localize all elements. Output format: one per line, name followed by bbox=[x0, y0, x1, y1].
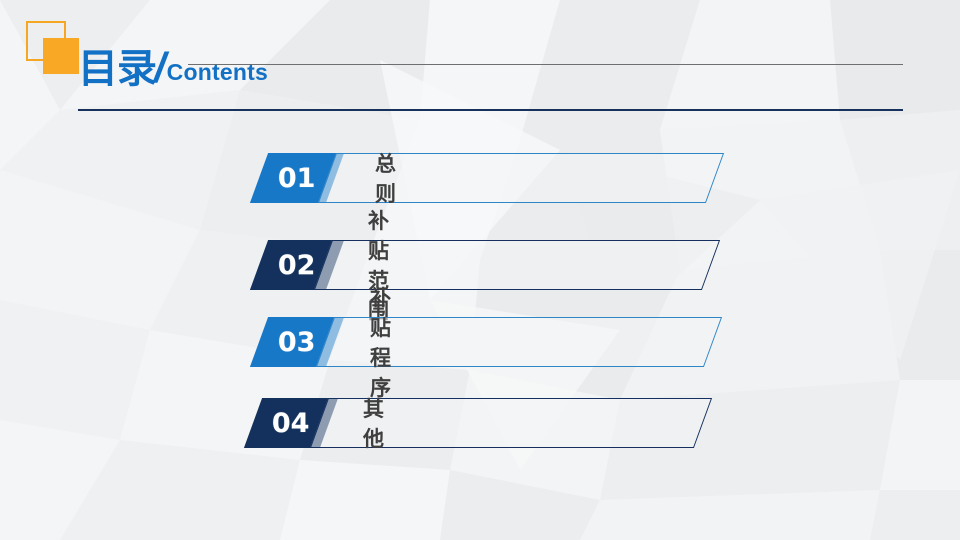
contents-number-text: 04 bbox=[272, 410, 310, 437]
contents-list: 01总则02补贴范围03补贴程序04其他 bbox=[0, 0, 960, 540]
contents-number-text: 02 bbox=[278, 252, 316, 279]
contents-number-text: 01 bbox=[278, 165, 316, 192]
contents-item-label: 总则 bbox=[375, 153, 397, 203]
contents-item-label: 其他 bbox=[363, 398, 385, 448]
contents-item-label: 补贴程序 bbox=[370, 317, 392, 367]
slide-canvas: 目录 / Contents 01总则02补贴范围03补贴程序04其他 bbox=[0, 0, 960, 540]
contents-number-text: 03 bbox=[278, 329, 316, 356]
